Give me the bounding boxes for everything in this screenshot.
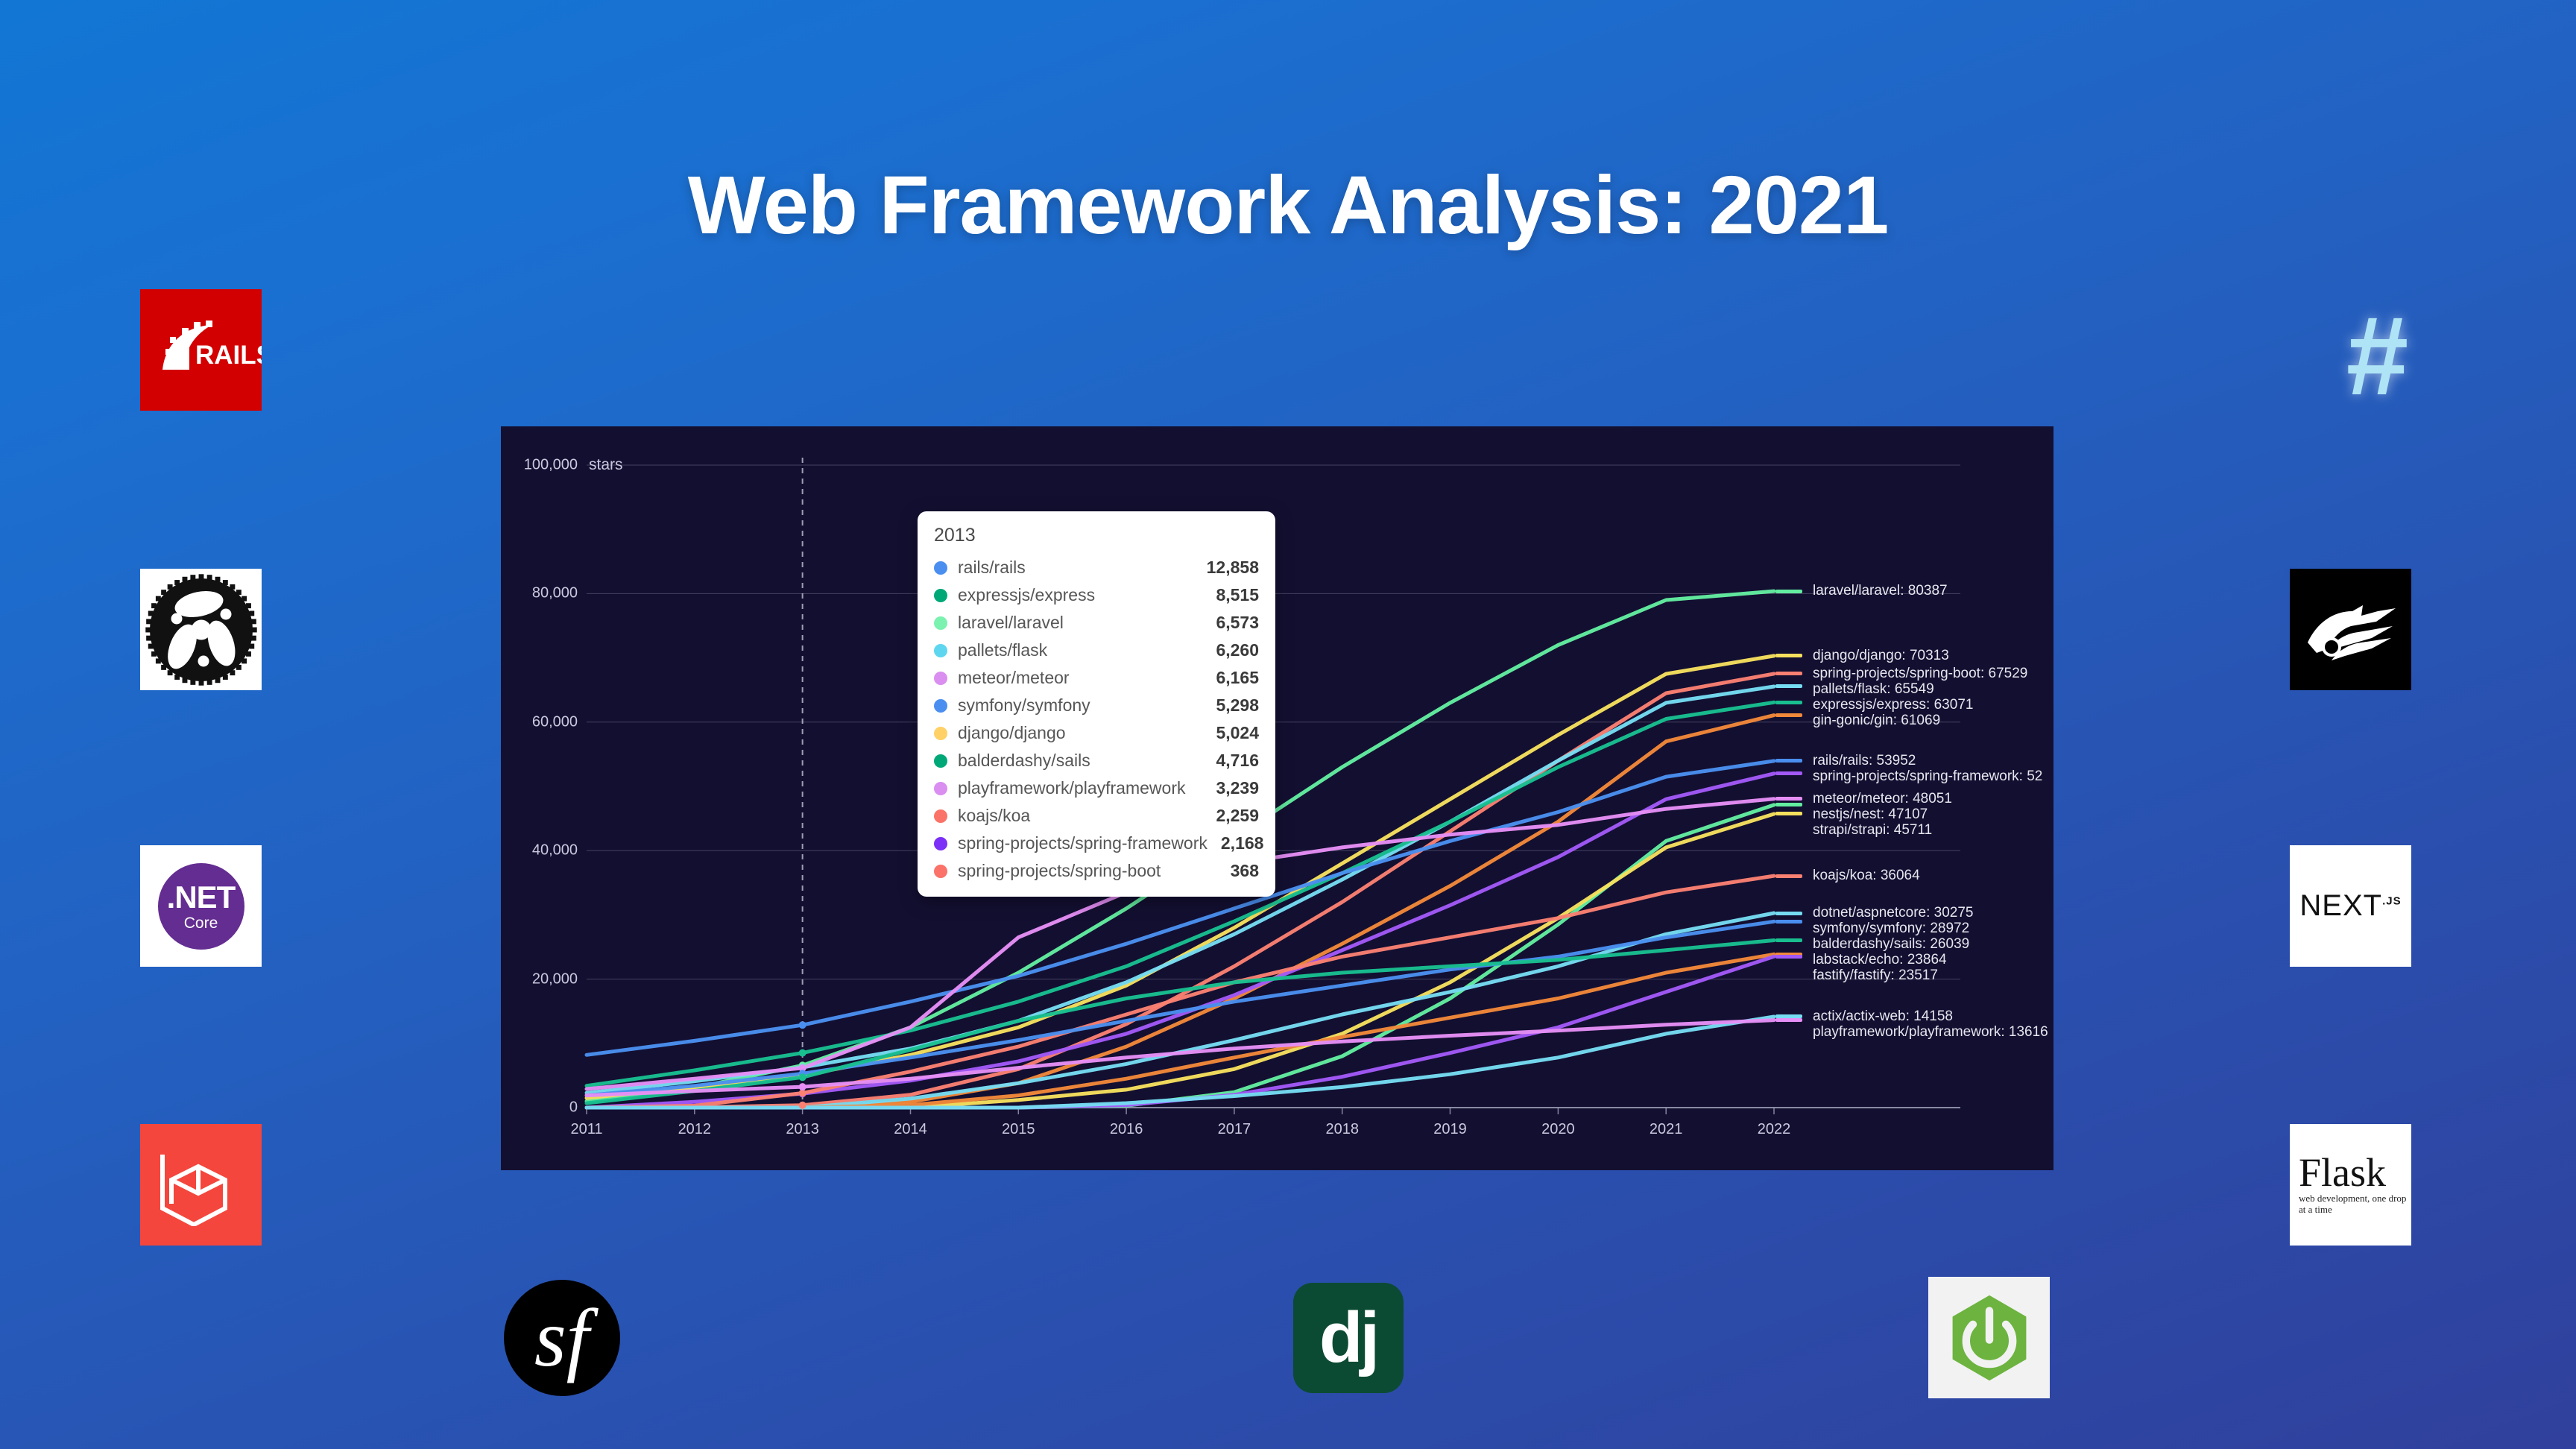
- tooltip-series-dot: [934, 837, 947, 850]
- symfony-circle: sf: [504, 1280, 620, 1396]
- line-chart-plot[interactable]: [501, 426, 2053, 1170]
- y-axis-title: stars: [589, 456, 623, 474]
- tooltip-row: rails/rails12,858: [934, 554, 1259, 581]
- tooltip-series-value: 8,515: [1202, 585, 1259, 605]
- series-end-swatch: [1775, 812, 1802, 815]
- tooltip-series-name: expressjs/express: [958, 585, 1095, 605]
- tooltip-series-value: 4,716: [1202, 751, 1259, 771]
- flask-label: Flask: [2299, 1154, 2411, 1192]
- symfony-label: sf: [534, 1297, 589, 1379]
- tooltip-series-dot: [934, 809, 947, 823]
- x-axis-tick: 2019: [1433, 1121, 1467, 1138]
- tooltip-series-dot: [934, 561, 947, 575]
- series-end-swatch: [1775, 684, 1802, 688]
- tooltip-series-dot: [934, 644, 947, 657]
- tooltip-row: koajs/koa2,259: [934, 802, 1259, 830]
- django-label: dj: [1319, 1302, 1377, 1374]
- tooltip-series-name: spring-projects/spring-framework: [958, 833, 1207, 853]
- tooltip-rows: rails/rails12,858expressjs/express8,515l…: [934, 554, 1259, 885]
- nextjs-logo: NEXT.JS: [2290, 845, 2411, 967]
- x-axis-tick: 2017: [1218, 1121, 1251, 1138]
- tooltip-row: spring-projects/spring-boot368: [934, 857, 1259, 885]
- dotnet-core-logo: .NET Core: [140, 845, 262, 967]
- series-end-swatch: [1775, 771, 1802, 775]
- tooltip-row: playframework/playframework3,239: [934, 774, 1259, 802]
- series-end-swatch: [1775, 759, 1802, 763]
- tooltip-series-name: rails/rails: [958, 558, 1026, 578]
- series-end-swatch: [1775, 672, 1802, 675]
- tooltip-year: 2013: [934, 525, 1259, 546]
- tooltip-row: balderdashy/sails4,716: [934, 747, 1259, 774]
- series-end-swatch: [1775, 590, 1802, 593]
- page-title: Web Framework Analysis: 2021: [0, 158, 2576, 253]
- django-logo: dj: [1287, 1277, 1409, 1398]
- spring-boot-glyph: [1941, 1289, 2038, 1386]
- tooltip-series-dot: [934, 672, 947, 685]
- chart-panel[interactable]: [501, 426, 2053, 1170]
- tooltip-series-name: koajs/koa: [958, 806, 1030, 826]
- tooltip-series-value: 5,298: [1202, 695, 1259, 716]
- y-axis-tick: 80,000: [516, 585, 578, 602]
- laravel-glyph: [157, 1144, 246, 1226]
- series-end-swatch: [1775, 797, 1802, 801]
- tooltip-series-name: meteor/meteor: [958, 668, 1070, 688]
- dotnet-sublabel: Core: [184, 915, 218, 931]
- hash-icon: #: [2346, 300, 2408, 411]
- tooltip-row: laravel/laravel6,573: [934, 609, 1259, 637]
- tooltip-series-value: 2,168: [1207, 833, 1264, 853]
- tooltip-row: spring-projects/spring-framework2,168: [934, 830, 1259, 857]
- dotnet-circle: .NET Core: [158, 863, 244, 950]
- gin-gopher-glyph: [2299, 589, 2403, 671]
- tooltip-series-dot: [934, 865, 947, 878]
- x-axis-tick: 2022: [1758, 1121, 1791, 1138]
- tooltip-row: symfony/symfony5,298: [934, 692, 1259, 719]
- y-axis-tick: 20,000: [516, 970, 578, 988]
- tooltip-series-value: 6,260: [1202, 640, 1259, 660]
- django-box: dj: [1293, 1283, 1404, 1393]
- dotnet-label: .NET: [167, 882, 236, 913]
- series-end-swatch: [1775, 874, 1802, 878]
- tooltip-series-name: pallets/flask: [958, 640, 1047, 660]
- tooltip-series-value: 12,858: [1193, 558, 1259, 578]
- sails-gear-glyph: [145, 574, 257, 686]
- tooltip-series-dot: [934, 754, 947, 768]
- y-axis-tick: 60,000: [516, 713, 578, 730]
- csharp-logo: #: [2317, 294, 2438, 416]
- flask-wordmark: Flask web development, one drop at a tim…: [2290, 1154, 2411, 1216]
- tooltip-series-name: symfony/symfony: [958, 695, 1090, 716]
- next-wordmark: NEXT.JS: [2299, 889, 2401, 923]
- tooltip-series-value: 6,165: [1202, 668, 1259, 688]
- tooltip-series-value: 368: [1217, 861, 1259, 881]
- y-axis-tick: 0: [516, 1099, 578, 1117]
- rails-logo: RAILS: [140, 289, 262, 411]
- tooltip-series-value: 3,239: [1202, 778, 1259, 798]
- tooltip-series-value: 5,024: [1202, 723, 1259, 743]
- x-axis-tick: 2016: [1110, 1121, 1143, 1138]
- series-end-swatch: [1775, 920, 1802, 924]
- tooltip-row: meteor/meteor6,165: [934, 664, 1259, 692]
- flask-sublabel: web development, one drop at a time: [2299, 1193, 2411, 1216]
- x-axis-tick: 2012: [678, 1121, 712, 1138]
- series-end-swatch: [1775, 1018, 1802, 1022]
- x-axis-tick: 2015: [1002, 1121, 1035, 1138]
- series-end-swatch: [1775, 713, 1802, 717]
- tooltip-series-name: django/django: [958, 723, 1066, 743]
- series-end-swatch: [1775, 938, 1802, 942]
- tooltip-series-value: 2,259: [1202, 806, 1259, 826]
- tooltip-row: django/django5,024: [934, 719, 1259, 747]
- rails-glyph: RAILS: [140, 289, 262, 411]
- x-axis-tick: 2014: [894, 1121, 927, 1138]
- sails-logo: [140, 569, 262, 690]
- series-end-swatch: [1775, 701, 1802, 704]
- x-axis-tick: 2011: [570, 1121, 602, 1138]
- tooltip-series-dot: [934, 782, 947, 795]
- y-axis-tick: 100,000: [516, 457, 578, 474]
- tooltip-series-name: laravel/laravel: [958, 613, 1064, 633]
- series-end-swatch: [1775, 654, 1802, 657]
- slide-canvas: Web Framework Analysis: 2021 RAILS: [0, 0, 2576, 1449]
- x-axis-tick: 2018: [1325, 1121, 1359, 1138]
- tooltip-series-dot: [934, 727, 947, 740]
- tooltip-series-dot: [934, 589, 947, 602]
- series-end-swatch: [1775, 803, 1802, 806]
- series-end-swatch: [1775, 955, 1802, 959]
- x-axis-tick: 2021: [1650, 1121, 1683, 1138]
- next-label: NEXT: [2299, 889, 2382, 922]
- tooltip-series-name: balderdashy/sails: [958, 751, 1090, 771]
- tooltip-row: expressjs/express8,515: [934, 581, 1259, 609]
- laravel-logo: [140, 1124, 262, 1246]
- flask-logo: Flask web development, one drop at a tim…: [2290, 1124, 2411, 1246]
- tooltip-series-value: 6,573: [1202, 613, 1259, 633]
- tooltip-series-name: spring-projects/spring-boot: [958, 861, 1161, 881]
- tooltip-series-dot: [934, 616, 947, 630]
- x-axis-tick: 2013: [786, 1121, 819, 1138]
- series-end-swatch: [1775, 912, 1802, 915]
- chart-tooltip[interactable]: 2013 rails/rails12,858expressjs/express8…: [918, 511, 1275, 897]
- svg-text:RAILS: RAILS: [195, 341, 262, 370]
- x-axis-tick: 2020: [1541, 1121, 1575, 1138]
- tooltip-row: pallets/flask6,260: [934, 637, 1259, 664]
- tooltip-series-dot: [934, 699, 947, 713]
- symfony-logo: sf: [501, 1277, 622, 1398]
- next-sublabel: .JS: [2382, 895, 2402, 908]
- spring-boot-logo: [1928, 1277, 2050, 1398]
- tooltip-series-name: playframework/playframework: [958, 778, 1185, 798]
- y-axis-tick: 40,000: [516, 842, 578, 859]
- gin-logo: [2290, 569, 2411, 690]
